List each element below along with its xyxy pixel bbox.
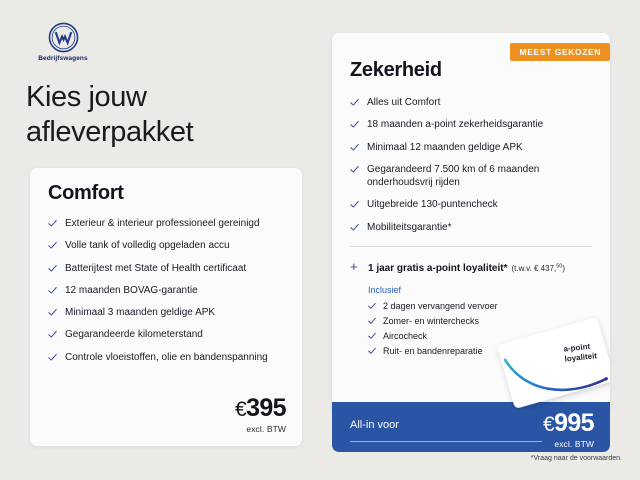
check-icon bbox=[350, 200, 359, 209]
all-in-label: All-in voor bbox=[350, 411, 399, 431]
list-item-label: Uitgebreide 130-puntencheck bbox=[367, 198, 502, 211]
check-icon bbox=[350, 98, 359, 107]
list-item-label: Gegarandeerde kilometerstand bbox=[65, 328, 207, 341]
list-item: Minimaal 12 maanden geldige APK bbox=[350, 141, 594, 154]
brand-block: Bedrijfswagens bbox=[33, 22, 93, 62]
comfort-price-block: €395 excl. BTW bbox=[235, 396, 286, 434]
delivery-package-promo: Bedrijfswagens Kies jouw afleverpakket C… bbox=[0, 0, 640, 480]
check-icon bbox=[350, 165, 359, 174]
price-row: All-in voor €995 excl. BTW bbox=[350, 411, 594, 449]
divider bbox=[350, 441, 542, 442]
list-item-label: Aircocheck bbox=[383, 331, 427, 341]
inclusief-list: 2 dagen vervangend vervoer Zomer- en win… bbox=[368, 301, 594, 356]
zekerheid-price-note: excl. BTW bbox=[543, 439, 594, 449]
list-item: 12 maanden BOVAG-garantie bbox=[48, 284, 286, 297]
check-icon bbox=[48, 330, 57, 339]
list-item: Ruit- en bandenreparatie bbox=[368, 346, 594, 356]
zekerheid-feature-list: Alles uit Comfort 18 maanden a-point zek… bbox=[350, 96, 594, 234]
list-item-label: Batterijtest met State of Health certifi… bbox=[65, 262, 250, 275]
plus-icon: + bbox=[350, 260, 361, 273]
zekerheid-price-block: €995 excl. BTW bbox=[543, 411, 594, 449]
check-icon bbox=[350, 223, 359, 232]
list-item: Gegarandeerde kilometerstand bbox=[48, 328, 286, 341]
list-item: 2 dagen vervangend vervoer bbox=[368, 301, 594, 311]
list-item-label: Gegarandeerd 7.500 km of 6 maanden onder… bbox=[367, 163, 594, 190]
list-item-label: 2 dagen vervangend vervoer bbox=[383, 301, 498, 311]
list-item: Alles uit Comfort bbox=[350, 96, 594, 109]
bonus-value-prefix: (t.w.v. € 437, bbox=[511, 264, 556, 273]
check-icon bbox=[48, 308, 57, 317]
bonus-value: (t.w.v. € 437,50) bbox=[511, 264, 565, 273]
currency-symbol: € bbox=[543, 413, 554, 436]
comfort-price-amount: 395 bbox=[246, 394, 286, 422]
package-card-zekerheid[interactable]: MEEST GEKOZEN Zekerheid Alles uit Comfor… bbox=[332, 33, 610, 410]
list-item: Exterieur & interieur professioneel gere… bbox=[48, 217, 286, 230]
zekerheid-price: €995 bbox=[543, 411, 594, 436]
inclusief-block: Inclusief 2 dagen vervangend vervoer Zom… bbox=[368, 285, 594, 356]
package-card-comfort[interactable]: Comfort Exterieur & interieur profession… bbox=[30, 168, 302, 446]
bonus-label: 1 jaar gratis a-point loyaliteit* bbox=[368, 263, 507, 274]
zekerheid-price-footer[interactable]: All-in voor €995 excl. BTW bbox=[332, 402, 610, 452]
divider bbox=[350, 246, 592, 247]
check-icon bbox=[368, 317, 376, 325]
list-item: Controle vloeistoffen, olie en bandenspa… bbox=[48, 351, 286, 364]
list-item-label: Volle tank of volledig opgeladen accu bbox=[65, 239, 234, 252]
list-item-label: Controle vloeistoffen, olie en bandenspa… bbox=[65, 351, 272, 364]
list-item-label: Ruit- en bandenreparatie bbox=[383, 346, 483, 356]
zekerheid-card-title: Zekerheid bbox=[350, 59, 594, 82]
list-item: 18 maanden a-point zekerheidsgarantie bbox=[350, 118, 594, 131]
list-item-label: 12 maanden BOVAG-garantie bbox=[65, 284, 202, 297]
comfort-price-note: excl. BTW bbox=[235, 424, 286, 434]
page-title: Kies jouw afleverpakket bbox=[26, 80, 316, 151]
bonus-row: + 1 jaar gratis a-point loyaliteit*(t.w.… bbox=[350, 258, 594, 276]
list-item: Gegarandeerd 7.500 km of 6 maanden onder… bbox=[350, 163, 594, 190]
check-icon bbox=[48, 353, 57, 362]
list-item-label: Mobiliteitsgarantie* bbox=[367, 221, 456, 234]
comfort-feature-list: Exterieur & interieur professioneel gere… bbox=[48, 217, 286, 364]
inclusief-label: Inclusief bbox=[368, 285, 594, 295]
list-item-label: Minimaal 12 maanden geldige APK bbox=[367, 141, 527, 154]
bonus-value-suffix: ) bbox=[562, 264, 565, 273]
currency-symbol: € bbox=[235, 398, 246, 421]
list-item-label: 18 maanden a-point zekerheidsgarantie bbox=[367, 118, 547, 131]
list-item: Aircocheck bbox=[368, 331, 594, 341]
list-item: Uitgebreide 130-puntencheck bbox=[350, 198, 594, 211]
comfort-card-title: Comfort bbox=[48, 182, 286, 205]
list-item-label: Zomer- en winterchecks bbox=[383, 316, 479, 326]
list-item: Zomer- en winterchecks bbox=[368, 316, 594, 326]
check-icon bbox=[350, 143, 359, 152]
check-icon bbox=[48, 241, 57, 250]
footnote: *Vraag naar de voorwaarden. bbox=[531, 455, 622, 462]
brand-sub-label: Bedrijfswagens bbox=[33, 55, 93, 62]
check-icon bbox=[48, 286, 57, 295]
check-icon bbox=[350, 120, 359, 129]
check-icon bbox=[368, 332, 376, 340]
check-icon bbox=[48, 219, 57, 228]
list-item-label: Exterieur & interieur professioneel gere… bbox=[65, 217, 264, 230]
check-icon bbox=[48, 264, 57, 273]
list-item-label: Minimaal 3 maanden geldige APK bbox=[65, 306, 219, 319]
list-item-label: Alles uit Comfort bbox=[367, 96, 444, 109]
volkswagen-logo-icon bbox=[33, 22, 93, 53]
zekerheid-price-amount: 995 bbox=[554, 409, 594, 437]
headline-line-2: afleverpakket bbox=[26, 115, 316, 150]
status-badge: MEEST GEKOZEN bbox=[510, 43, 610, 61]
headline-line-1: Kies jouw bbox=[26, 80, 316, 115]
comfort-price: €395 bbox=[235, 396, 286, 421]
list-item: Mobiliteitsgarantie* bbox=[350, 221, 594, 234]
list-item: Minimaal 3 maanden geldige APK bbox=[48, 306, 286, 319]
check-icon bbox=[368, 302, 376, 310]
list-item: Batterijtest met State of Health certifi… bbox=[48, 262, 286, 275]
list-item: Volle tank of volledig opgeladen accu bbox=[48, 239, 286, 252]
check-icon bbox=[368, 347, 376, 355]
